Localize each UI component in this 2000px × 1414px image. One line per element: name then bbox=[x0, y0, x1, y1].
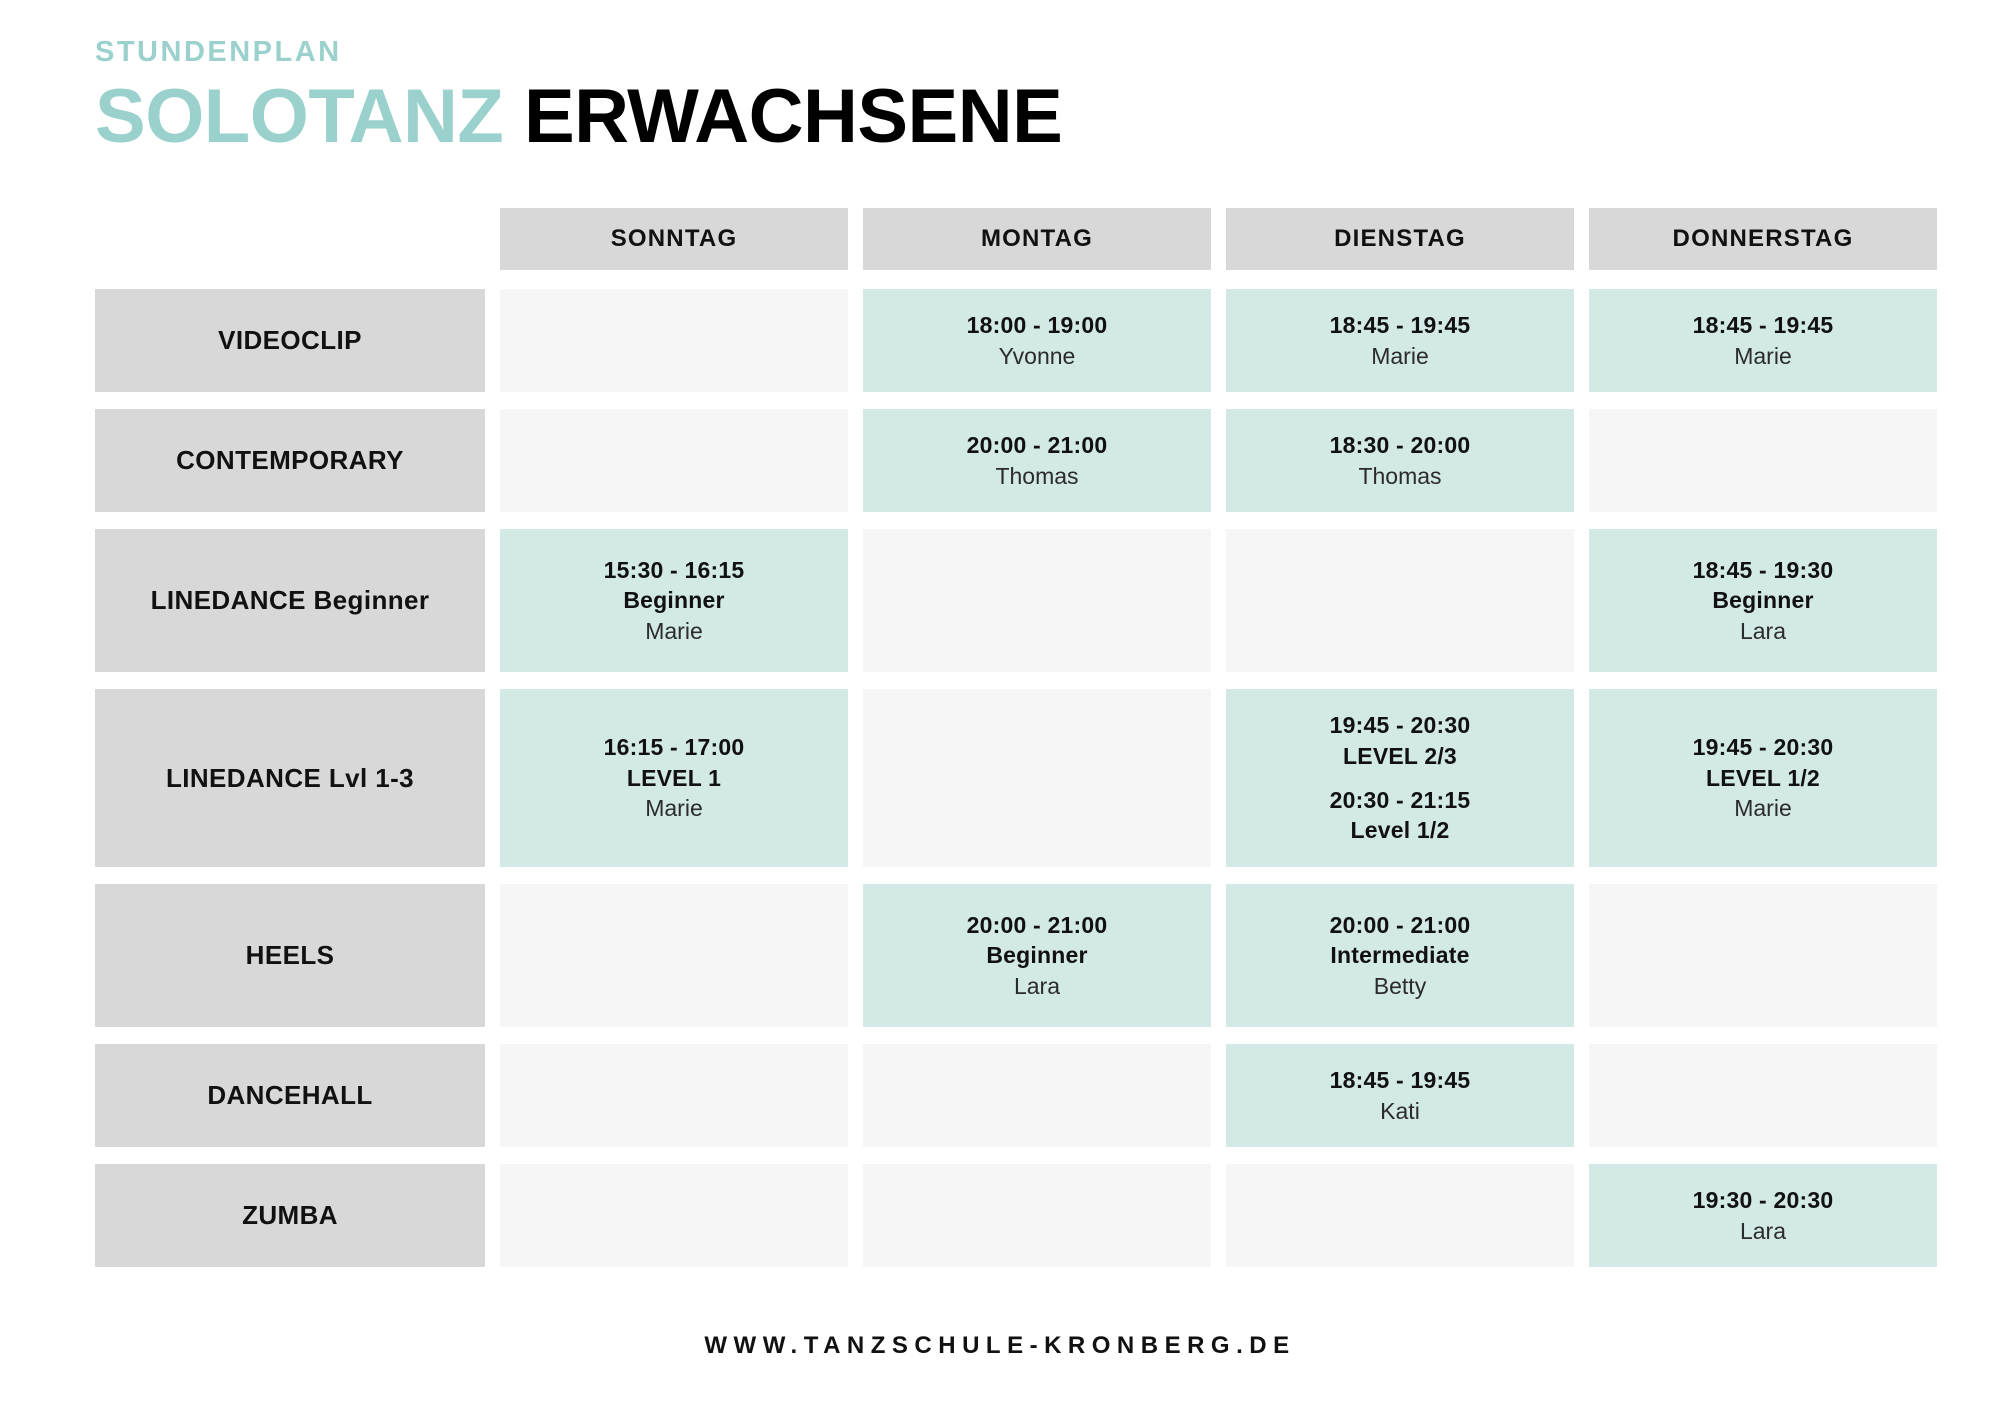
class-cell[interactable]: 19:30 - 20:30Lara bbox=[1589, 1164, 1937, 1267]
empty-cell bbox=[863, 1164, 1211, 1267]
class-session: 20:00 - 21:00Thomas bbox=[967, 430, 1108, 491]
class-teacher: Betty bbox=[1330, 971, 1471, 1001]
table-row: LINEDANCE Beginner15:30 - 16:15BeginnerM… bbox=[95, 529, 1937, 672]
empty-cell bbox=[863, 529, 1211, 672]
class-cell[interactable]: 15:30 - 16:15BeginnerMarie bbox=[500, 529, 848, 672]
empty-cell bbox=[500, 1164, 848, 1267]
class-teacher: Lara bbox=[967, 971, 1108, 1001]
table-row: DANCEHALL18:45 - 19:45Kati bbox=[95, 1044, 1937, 1147]
class-teacher: Marie bbox=[1330, 341, 1471, 371]
footer-url: WWW.TANZSCHULE-KRONBERG.DE bbox=[0, 1332, 2000, 1360]
class-cell[interactable]: 18:45 - 19:30BeginnerLara bbox=[1589, 529, 1937, 672]
class-time: 20:00 - 21:00 bbox=[1330, 910, 1471, 940]
class-time: 18:45 - 19:45 bbox=[1693, 310, 1834, 340]
table-row: LINEDANCE Lvl 1-316:15 - 17:00LEVEL 1Mar… bbox=[95, 689, 1937, 867]
class-level: Beginner bbox=[604, 585, 745, 615]
row-label-3: LINEDANCE Lvl 1-3 bbox=[95, 689, 485, 867]
class-time: 18:45 - 19:45 bbox=[1330, 310, 1471, 340]
table-row: ZUMBA19:30 - 20:30Lara bbox=[95, 1164, 1937, 1267]
day-header-donnerstag: DONNERSTAG bbox=[1589, 208, 1937, 270]
page-title-strong: ERWACHSENE bbox=[524, 74, 1062, 159]
row-label-4: HEELS bbox=[95, 884, 485, 1027]
class-session: 18:00 - 19:00Yvonne bbox=[967, 310, 1108, 371]
class-teacher: Marie bbox=[1693, 341, 1834, 371]
class-session: 20:30 - 21:15Level 1/2 bbox=[1330, 785, 1471, 846]
class-session: 18:45 - 19:45Kati bbox=[1330, 1065, 1471, 1126]
class-cell[interactable]: 18:45 - 19:45Marie bbox=[1226, 289, 1574, 392]
class-time: 19:30 - 20:30 bbox=[1693, 1185, 1834, 1215]
empty-cell bbox=[863, 689, 1211, 867]
class-time: 15:30 - 16:15 bbox=[604, 555, 745, 585]
class-session: 18:30 - 20:00Thomas bbox=[1330, 430, 1471, 491]
class-time: 16:15 - 17:00 bbox=[604, 732, 745, 762]
empty-cell bbox=[1589, 409, 1937, 512]
class-teacher: Marie bbox=[604, 616, 745, 646]
class-session: 19:45 - 20:30LEVEL 1/2Marie bbox=[1693, 732, 1834, 823]
empty-cell bbox=[500, 1044, 848, 1147]
class-cell[interactable]: 20:00 - 21:00Thomas bbox=[863, 409, 1211, 512]
row-label-1: CONTEMPORARY bbox=[95, 409, 485, 512]
class-level: LEVEL 2/3 bbox=[1330, 741, 1471, 771]
page-title: SOLOTANZ ERWACHSENE bbox=[95, 79, 1062, 155]
class-time: 20:30 - 21:15 bbox=[1330, 785, 1471, 815]
empty-cell bbox=[1589, 1044, 1937, 1147]
class-session: 16:15 - 17:00LEVEL 1Marie bbox=[604, 732, 745, 823]
class-teacher: Thomas bbox=[1330, 461, 1471, 491]
schedule-page: STUNDENPLAN SOLOTANZ ERWACHSENE SONNTAG … bbox=[0, 0, 2000, 1414]
empty-cell bbox=[500, 409, 848, 512]
class-cell[interactable]: 18:30 - 20:00Thomas bbox=[1226, 409, 1574, 512]
empty-cell bbox=[1226, 529, 1574, 672]
class-cell[interactable]: 20:00 - 21:00IntermediateBetty bbox=[1226, 884, 1574, 1027]
grid-corner-spacer bbox=[95, 208, 485, 270]
class-session: 19:45 - 20:30LEVEL 2/3 bbox=[1330, 710, 1471, 771]
schedule-grid: SONNTAG MONTAG DIENSTAG DONNERSTAG VIDEO… bbox=[95, 208, 1937, 1284]
empty-cell bbox=[1589, 884, 1937, 1027]
table-row: HEELS20:00 - 21:00BeginnerLara20:00 - 21… bbox=[95, 884, 1937, 1027]
page-kicker: STUNDENPLAN bbox=[95, 38, 1062, 67]
class-level: Level 1/2 bbox=[1330, 815, 1471, 845]
class-time: 19:45 - 20:30 bbox=[1330, 710, 1471, 740]
class-time: 19:45 - 20:30 bbox=[1693, 732, 1834, 762]
empty-cell bbox=[863, 1044, 1211, 1147]
class-time: 20:00 - 21:00 bbox=[967, 910, 1108, 940]
class-level: Intermediate bbox=[1330, 940, 1471, 970]
class-time: 18:45 - 19:30 bbox=[1693, 555, 1834, 585]
table-row: CONTEMPORARY20:00 - 21:00Thomas18:30 - 2… bbox=[95, 409, 1937, 512]
class-teacher: Marie bbox=[1693, 793, 1834, 823]
class-cell[interactable]: 19:45 - 20:30LEVEL 2/320:30 - 21:15Level… bbox=[1226, 689, 1574, 867]
class-level: Beginner bbox=[1693, 585, 1834, 615]
page-title-accent: SOLOTANZ bbox=[95, 74, 503, 159]
class-level: LEVEL 1/2 bbox=[1693, 763, 1834, 793]
schedule-header-row: SONNTAG MONTAG DIENSTAG DONNERSTAG bbox=[95, 208, 1937, 270]
row-label-6: ZUMBA bbox=[95, 1164, 485, 1267]
class-session: 20:00 - 21:00IntermediateBetty bbox=[1330, 910, 1471, 1001]
empty-cell bbox=[500, 884, 848, 1027]
class-teacher: Marie bbox=[604, 793, 745, 823]
class-session: 15:30 - 16:15BeginnerMarie bbox=[604, 555, 745, 646]
row-label-0: VIDEOCLIP bbox=[95, 289, 485, 392]
class-time: 20:00 - 21:00 bbox=[967, 430, 1108, 460]
class-level: LEVEL 1 bbox=[604, 763, 745, 793]
row-label-5: DANCEHALL bbox=[95, 1044, 485, 1147]
class-time: 18:00 - 19:00 bbox=[967, 310, 1108, 340]
class-cell[interactable]: 18:45 - 19:45Marie bbox=[1589, 289, 1937, 392]
class-session: 19:30 - 20:30Lara bbox=[1693, 1185, 1834, 1246]
class-session: 18:45 - 19:45Marie bbox=[1330, 310, 1471, 371]
day-header-dienstag: DIENSTAG bbox=[1226, 208, 1574, 270]
class-time: 18:45 - 19:45 bbox=[1330, 1065, 1471, 1095]
table-row: VIDEOCLIP18:00 - 19:00Yvonne18:45 - 19:4… bbox=[95, 289, 1937, 392]
class-teacher: Yvonne bbox=[967, 341, 1108, 371]
class-cell[interactable]: 18:45 - 19:45Kati bbox=[1226, 1044, 1574, 1147]
day-header-sonntag: SONNTAG bbox=[500, 208, 848, 270]
empty-cell bbox=[500, 289, 848, 392]
class-cell[interactable]: 20:00 - 21:00BeginnerLara bbox=[863, 884, 1211, 1027]
class-cell[interactable]: 18:00 - 19:00Yvonne bbox=[863, 289, 1211, 392]
class-teacher: Lara bbox=[1693, 1216, 1834, 1246]
class-session: 18:45 - 19:45Marie bbox=[1693, 310, 1834, 371]
day-header-montag: MONTAG bbox=[863, 208, 1211, 270]
class-teacher: Thomas bbox=[967, 461, 1108, 491]
class-cell[interactable]: 19:45 - 20:30LEVEL 1/2Marie bbox=[1589, 689, 1937, 867]
class-teacher: Lara bbox=[1693, 616, 1834, 646]
class-session: 20:00 - 21:00BeginnerLara bbox=[967, 910, 1108, 1001]
class-teacher: Kati bbox=[1330, 1096, 1471, 1126]
schedule-rows: VIDEOCLIP18:00 - 19:00Yvonne18:45 - 19:4… bbox=[95, 289, 1937, 1267]
class-level: Beginner bbox=[967, 940, 1108, 970]
row-label-2: LINEDANCE Beginner bbox=[95, 529, 485, 672]
class-cell[interactable]: 16:15 - 17:00LEVEL 1Marie bbox=[500, 689, 848, 867]
empty-cell bbox=[1226, 1164, 1574, 1267]
page-header: STUNDENPLAN SOLOTANZ ERWACHSENE bbox=[95, 38, 1062, 155]
class-time: 18:30 - 20:00 bbox=[1330, 430, 1471, 460]
class-session: 18:45 - 19:30BeginnerLara bbox=[1693, 555, 1834, 646]
